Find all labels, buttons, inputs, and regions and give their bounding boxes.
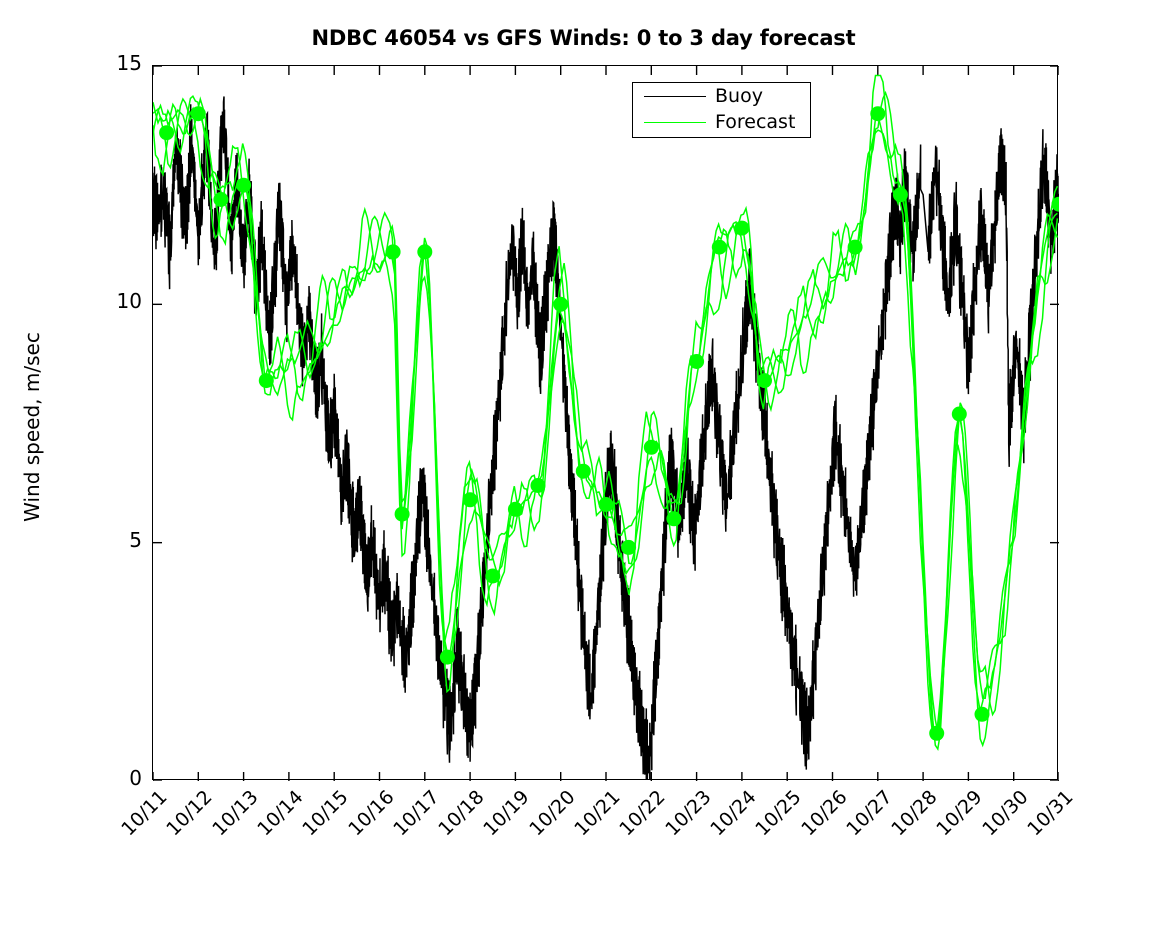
forecast-marker [666,511,681,526]
forecast-marker [508,502,523,517]
forecast-marker [531,478,546,493]
forecast-marker [689,354,704,369]
legend-label-buoy: Buoy [715,85,763,107]
forecast-marker [395,507,410,522]
legend-item-buoy: Buoy [633,83,812,111]
buoy-series-line [153,97,1059,781]
legend: Buoy Forecast [632,82,811,138]
forecast-marker [870,106,885,121]
legend-label-forecast: Forecast [715,111,795,133]
buoy-line [153,97,1059,781]
forecast-line [153,76,1057,736]
forecast-marker [386,244,401,259]
forecast-marker [576,464,591,479]
forecast-marker [213,192,228,207]
legend-swatch-forecast [644,122,706,123]
forecast-marker [485,569,500,584]
forecast-marker [621,540,636,555]
forecast-marker [259,373,274,388]
forecast-marker [553,297,568,312]
forecast-marker [417,244,432,259]
forecast-marker [975,707,990,722]
axis-ticks [153,66,1059,781]
forecast-marker [236,178,251,193]
forecast-marker [848,240,863,255]
forecast-marker [712,240,727,255]
forecast-marker [644,440,659,455]
forecast-series-lines [153,76,1057,750]
forecast-marker [893,187,908,202]
forecast-marker [929,726,944,741]
forecast-marker [159,125,174,140]
forecast-marker [599,497,614,512]
chart-figure: NDBC 46054 vs GFS Winds: 0 to 3 day fore… [0,0,1167,875]
plot-area [152,65,1058,780]
forecast-marker [440,650,455,665]
forecast-line [153,99,1057,749]
forecast-marker [463,492,478,507]
forecast-marker [952,407,967,422]
forecast-marker [191,106,206,121]
legend-item-forecast: Forecast [633,109,812,137]
legend-swatch-buoy [644,96,706,97]
plot-canvas [153,66,1059,781]
forecast-marker [757,373,772,388]
forecast-marker [734,221,749,236]
